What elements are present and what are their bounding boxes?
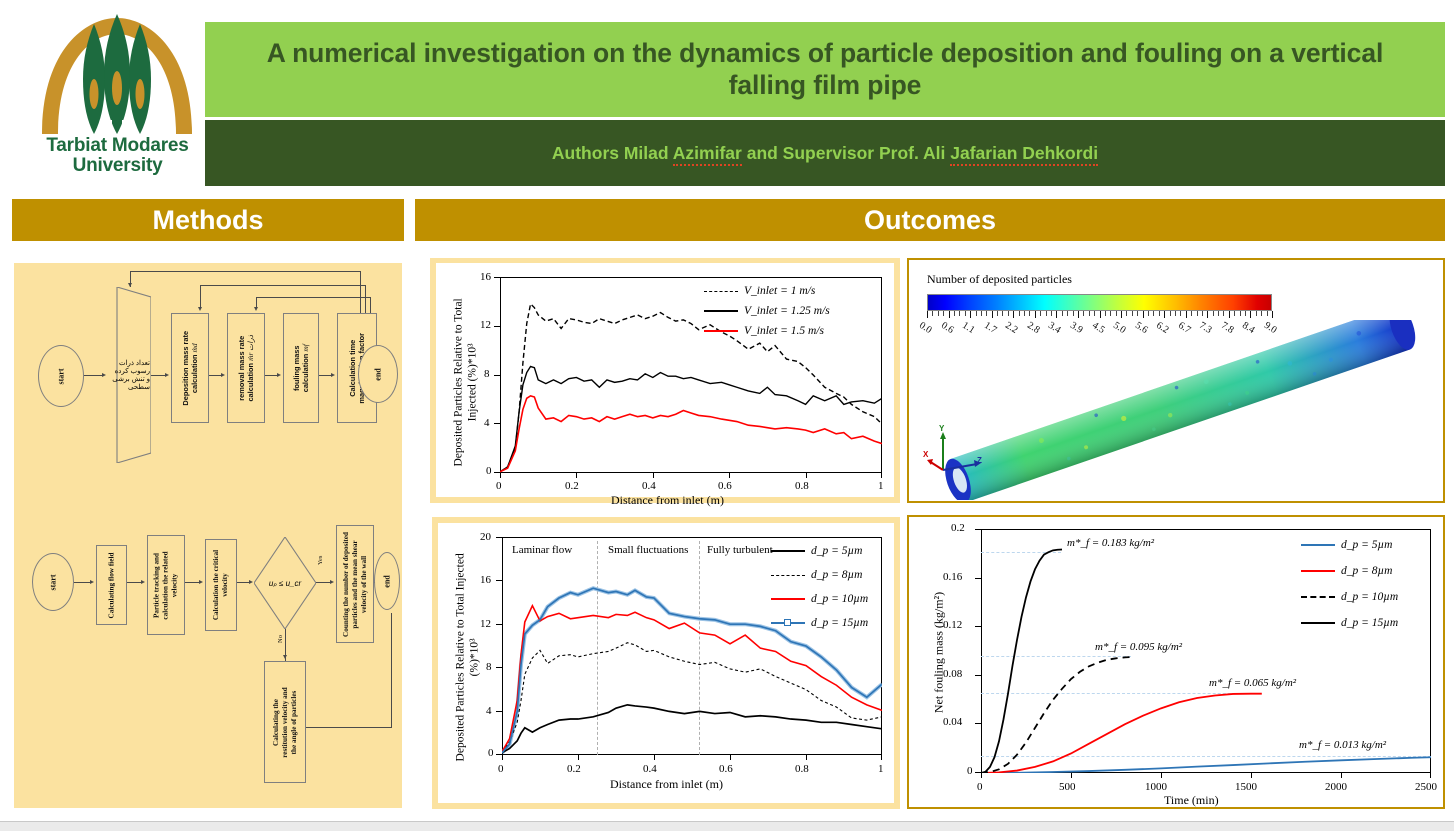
fc1-start: start <box>38 345 84 407</box>
chart3-ytick-5: 20 <box>480 531 491 543</box>
chart4-legend-swatch-0 <box>1301 544 1335 546</box>
fc2-yes-label: Yes <box>317 556 324 565</box>
chart4-xtick-3: 1500 <box>1235 781 1257 793</box>
chart1-legend-swatch-2 <box>704 330 738 332</box>
chart1-xtick-0: 0 <box>496 480 502 492</box>
chart-card-deposition-vs-particle-diameter: 20 16 12 8 4 0 0 0.2 0.4 0.6 0.8 1 Dista <box>432 517 900 809</box>
colorbar-ticks <box>927 311 1272 318</box>
author-name: Azimifar <box>673 143 742 166</box>
chart3-legend-label-3: d_p = 15µm <box>811 617 868 629</box>
fc1-arrow-1 <box>102 373 106 377</box>
chart1-ylabel: Deposited Particles Relative to Total In… <box>452 282 481 482</box>
fc2-arrow-2 <box>141 580 145 584</box>
chart1-xtick-1: 0.2 <box>565 480 579 492</box>
flowchart-fouling: start تعداد ذرات رسوب کرده و تنش برشی سط… <box>14 263 402 483</box>
chart3-xtick-2: 0.4 <box>643 763 657 775</box>
chart1-xtick-4: 0.8 <box>795 480 809 492</box>
fc2-decision-text: uₚ ≤ u_cr <box>269 579 301 588</box>
chart3-legend-item-3: d_p = 15µm <box>771 617 868 629</box>
logo-mark-icon <box>30 8 205 138</box>
chart3-xlabel: Distance from inlet (m) <box>610 777 723 792</box>
chart4-legend-label-1: d_p = 8µm <box>1341 565 1392 577</box>
chart4-legend-swatch-1 <box>1301 570 1335 572</box>
chart1-xtick-3: 0.6 <box>718 480 732 492</box>
chart1-ytick-4: 16 <box>480 271 491 283</box>
fc1-input-text-wrap: تعداد ذرات رسوب کرده و تنش برشی سطحی <box>110 321 150 429</box>
fc1-step-1: Deposition mass rate calculation ṁd <box>171 313 209 423</box>
university-logo: Tarbiat Modares University <box>30 8 205 186</box>
chart1-legend-label-1: V_inlet = 1.25 m/s <box>744 305 830 317</box>
fc1-fb-v2 <box>365 285 366 313</box>
chart1-ytick-3: 12 <box>480 319 491 331</box>
logo-text-line1: Tarbiat Modares <box>30 136 205 156</box>
fc2-box-2: Particle tracking and calculation the re… <box>147 535 185 635</box>
chart1-legend-item-1: V_inlet = 1.25 m/s <box>704 305 830 317</box>
chart3-ytick-0: 0 <box>488 747 494 759</box>
chart3-legend-item-0: d_p = 5µm <box>771 545 862 557</box>
chart-card-net-fouling-mass: 0.2 0.16 0.12 0.08 0.04 0 0 500 1000 150… <box>907 515 1445 809</box>
chart4-xtick-0: 0 <box>977 781 983 793</box>
fc1-fb-arrow3 <box>254 307 258 311</box>
authors-banner: Authors Milad Azimifar and Supervisor Pr… <box>205 120 1445 186</box>
fc2-box-5: Calculating the restitution velocity and… <box>264 661 306 783</box>
chart4-xtick-5: 2500 <box>1415 781 1437 793</box>
chart3-xtick-5: 1 <box>878 763 884 775</box>
fc2-arrow-yes <box>330 580 334 584</box>
fc1-arrow-5 <box>331 373 335 377</box>
chart4-xtick-2: 1000 <box>1145 781 1167 793</box>
chart4-legend-swatch-2 <box>1301 596 1335 598</box>
fc2-box-4: Counting the number of deposited particl… <box>336 525 374 643</box>
chart3-legend-swatch-0 <box>771 550 805 552</box>
logo-text-line2: University <box>30 156 205 176</box>
chart4-legend-item-0: d_p = 5µm <box>1301 539 1392 551</box>
fc2-arrow-1 <box>90 580 94 584</box>
chart4-legend-item-3: d_p = 15µm <box>1301 617 1398 629</box>
chart3-xtick-3: 0.6 <box>719 763 733 775</box>
fc1-fb-arrow2 <box>198 307 202 311</box>
supervisor-name: Jafarian Dehkordi <box>950 143 1098 166</box>
fc2-decision-text-wrap: uₚ ≤ u_cr <box>261 553 309 613</box>
window-bottom-edge <box>0 821 1454 831</box>
axis-label-z: Z <box>977 456 982 465</box>
fc2-end: end <box>374 552 400 610</box>
chart3-legend-label-2: d_p = 10µm <box>811 593 868 605</box>
poster-title: A numerical investigation on the dynamic… <box>231 38 1419 102</box>
fc2-no-label: No <box>277 635 284 643</box>
section-label-methods: Methods <box>153 205 264 236</box>
fc2-start: start <box>32 553 74 611</box>
chart1-legend-item-0: V_inlet = 1 m/s <box>704 285 815 297</box>
chart4-ytick-5: 0.2 <box>951 522 965 534</box>
fc1-arrow-4 <box>277 373 281 377</box>
chart3-legend-swatch-3 <box>771 618 805 628</box>
fc1-fb-d2 <box>200 285 201 309</box>
fc2-arrow-no <box>283 655 287 659</box>
authors-line: Authors Milad Azimifar and Supervisor Pr… <box>552 143 1098 164</box>
fc1-fb-arrow1 <box>128 283 132 287</box>
chart1-legend-swatch-0 <box>704 291 738 292</box>
fc1-fb-v1 <box>360 271 361 313</box>
axis-label-y: Y <box>939 424 944 433</box>
fc1-fb-v3 <box>370 297 371 313</box>
fc1-input-text: تعداد ذرات رسوب کرده و تنش برشی سطحی <box>110 359 150 391</box>
chart4-xlabel: Time (min) <box>1164 793 1219 808</box>
fc1-step-2: removal mass rate calculation ṁr ذرات <box>227 313 265 423</box>
chart3-legend-label-1: d_p = 8µm <box>811 569 862 581</box>
plot-area-4: 0.2 0.16 0.12 0.08 0.04 0 0 500 1000 150… <box>909 517 1443 807</box>
fc1-fb-h2 <box>200 285 366 286</box>
poster-root: Tarbiat Modares University A numerical i… <box>0 0 1454 831</box>
logo-text: Tarbiat Modares University <box>30 136 205 176</box>
chart3-ytick-1: 4 <box>486 705 492 717</box>
chart3-xtick-4: 0.8 <box>795 763 809 775</box>
pipe-visualization-card: Number of deposited particles 0.00.61.11… <box>907 258 1445 503</box>
chart4-ylabel: Net fouling mass (kg/m²) <box>932 573 947 733</box>
chart1-ytick-0: 0 <box>486 465 492 477</box>
chart3-legend-item-2: d_p = 10µm <box>771 593 868 605</box>
chart1-xtick-2: 0.4 <box>642 480 656 492</box>
chart3-xtick-1: 0.2 <box>567 763 581 775</box>
chart4-legend-item-2: d_p = 10µm <box>1301 591 1398 603</box>
colorbar-title: Number of deposited particles <box>927 272 1072 287</box>
fc2-loop-h <box>306 727 392 728</box>
chart4-legend-label-0: d_p = 5µm <box>1341 539 1392 551</box>
fc1-end: end <box>358 345 398 403</box>
chart3-legend-item-1: d_p = 8µm <box>771 569 862 581</box>
chart3-legend-label-0: d_p = 5µm <box>811 545 862 557</box>
chart1-ytick-1: 4 <box>484 417 490 429</box>
chart4-legend-label-3: d_p = 15µm <box>1341 617 1398 629</box>
fc1-step-3: fouling mass calculation mf <box>283 313 319 423</box>
chart3-xtick-0: 0 <box>498 763 504 775</box>
title-banner: A numerical investigation on the dynamic… <box>205 22 1445 117</box>
fc1-fb-h1 <box>130 271 361 272</box>
section-header-methods: Methods <box>12 199 404 241</box>
fc1-conn-1 <box>84 375 104 376</box>
fc2-box-1: Calculating flow field <box>96 545 127 625</box>
plot-area-1: 16 12 8 4 0 0 0.2 0.4 0.6 0.8 1 Distance… <box>436 263 894 497</box>
fc1-fb-h3 <box>256 297 371 298</box>
fc1-arrow-3 <box>221 373 225 377</box>
chart-card-deposition-vs-inlet-velocity: 16 12 8 4 0 0 0.2 0.4 0.6 0.8 1 Distance… <box>430 258 900 503</box>
chart1-xlabel: Distance from inlet (m) <box>611 493 724 508</box>
section-header-outcomes: Outcomes <box>415 199 1445 241</box>
fc2-box-3: Calculation the critical velocity <box>205 539 237 631</box>
authors-mid: and Supervisor Prof. Ali <box>742 143 950 163</box>
chart4-legend-label-2: d_p = 10µm <box>1341 591 1398 603</box>
fc2-arrow-3 <box>199 580 203 584</box>
flowchart-tracking: start Calculating flow field Particle tr… <box>14 495 402 805</box>
chart1-xtick-5: 1 <box>878 480 884 492</box>
coordinate-axes-indicator: Y Z X <box>927 428 987 476</box>
axis-label-x: X <box>923 450 928 459</box>
chart1-ytick-2: 8 <box>484 368 490 380</box>
chart4-legend-item-1: d_p = 8µm <box>1301 565 1392 577</box>
chart3-ytick-2: 8 <box>486 661 492 673</box>
chart3-legend-swatch-1 <box>771 575 805 576</box>
chart3-ylabel: Deposited Particles Relative to Total In… <box>454 547 483 767</box>
pipe-3d-render <box>919 320 1439 500</box>
plot-area-3: 20 16 12 8 4 0 0 0.2 0.4 0.6 0.8 1 Dista <box>438 523 894 803</box>
fc2-arrow-4 <box>249 580 253 584</box>
chart3-legend-swatch-2 <box>771 598 805 600</box>
chart1-legend-label-2: V_inlet = 1.5 m/s <box>744 325 824 337</box>
chart4-legend-swatch-3 <box>1301 622 1335 624</box>
fc2-loop-v <box>391 613 392 727</box>
authors-prefix: Authors Milad <box>552 143 673 163</box>
fc1-arrow-2 <box>165 373 169 377</box>
methods-panel: start تعداد ذرات رسوب کرده و تنش برشی سط… <box>14 263 402 808</box>
section-label-outcomes: Outcomes <box>864 205 996 236</box>
chart4-xtick-4: 2000 <box>1325 781 1347 793</box>
chart4-ytick-0: 0 <box>967 765 973 777</box>
colorbar-gradient <box>927 294 1272 311</box>
chart1-legend-label-0: V_inlet = 1 m/s <box>744 285 815 297</box>
chart4-xtick-1: 500 <box>1059 781 1076 793</box>
chart1-legend-item-2: V_inlet = 1.5 m/s <box>704 325 824 337</box>
chart1-legend-swatch-1 <box>704 310 738 312</box>
